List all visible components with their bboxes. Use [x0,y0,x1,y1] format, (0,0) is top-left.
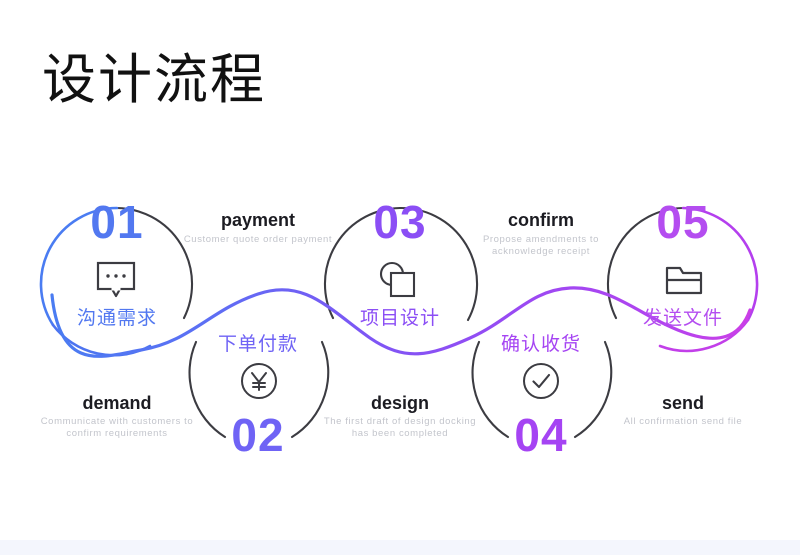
shapes-icon [381,263,414,296]
page-title: 设计流程 [42,49,266,111]
step-ring-3 [325,208,477,320]
process-flow-diagram [0,160,800,490]
slide-canvas: 设计流程 [0,0,800,555]
folder-icon [667,268,701,293]
check-circle-icon [524,364,558,398]
speech-bubble-icon [98,263,134,296]
flow-wave-path [52,288,750,356]
yen-circle-icon [242,364,276,398]
bottom-accent-band [0,540,800,555]
